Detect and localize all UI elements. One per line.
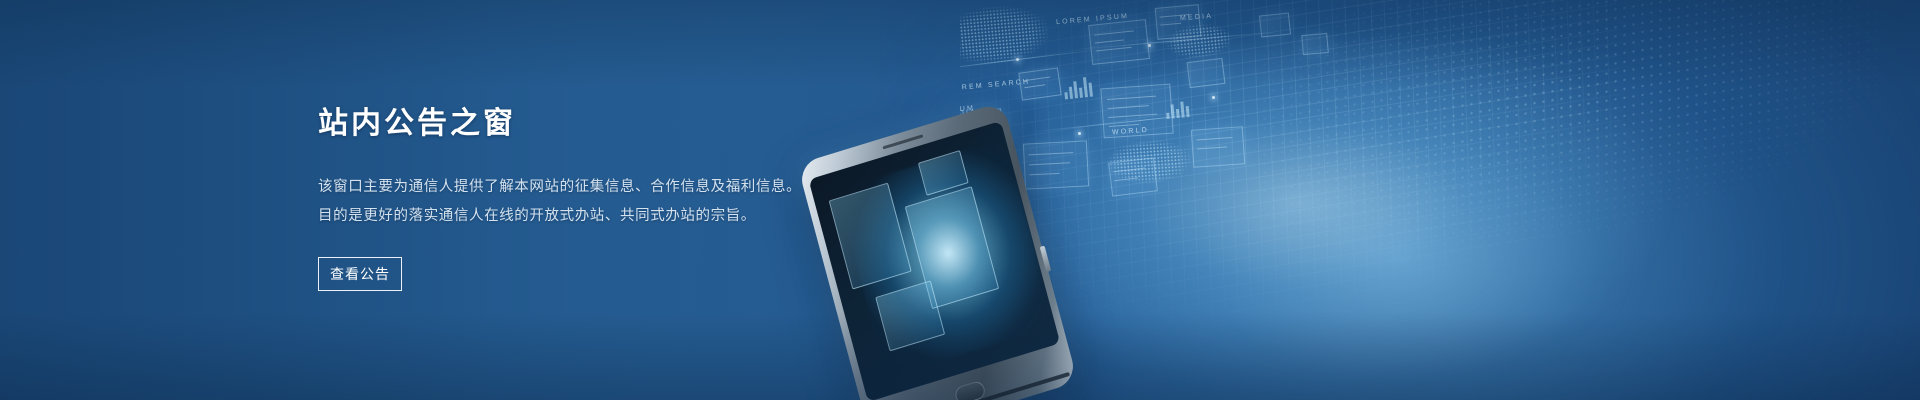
banner-vignette xyxy=(0,0,1920,400)
banner-description-line-1: 该窗口主要为通信人提供了解本网站的征集信息、合作信息及福利信息。 xyxy=(318,173,878,202)
banner-description-line-2: 目的是更好的落实通信人在线的开放式办站、共同式办站的宗旨。 xyxy=(318,202,878,231)
banner-title: 站内公告之窗 xyxy=(318,109,878,139)
banner-description: 该窗口主要为通信人提供了解本网站的征集信息、合作信息及福利信息。 目的是更好的落… xyxy=(318,173,878,231)
banner-content: 站内公告之窗 该窗口主要为通信人提供了解本网站的征集信息、合作信息及福利信息。 … xyxy=(318,0,878,400)
view-announcement-button[interactable]: 查看公告 xyxy=(318,257,402,291)
announcement-banner: BUSINESS MEDIA MEDIA WORLD LOREM IPSUM L… xyxy=(0,0,1920,400)
